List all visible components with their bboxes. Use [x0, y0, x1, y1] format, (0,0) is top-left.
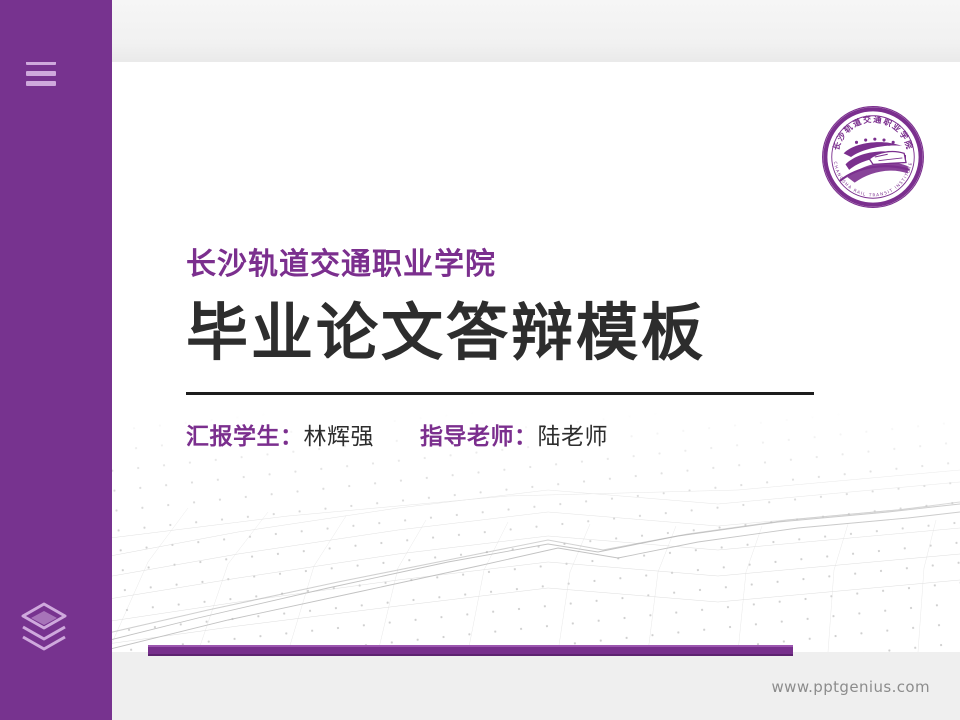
left-sidebar [0, 0, 112, 720]
slide-content-card: 长沙轨道交通职业学院 CHANGSHA RAIL TRANSIT INSTITU… [78, 62, 960, 652]
people-row: 汇报学生： 林辉强 指导老师： 陆老师 [186, 417, 886, 451]
background-top-strip [0, 0, 960, 66]
advisor-label: 指导老师： [420, 417, 538, 451]
hamburger-menu-icon[interactable] [26, 60, 56, 86]
student-name: 林辉强 [304, 417, 375, 451]
bottom-accent-bar [148, 645, 793, 656]
menu-bar-2 [26, 71, 56, 76]
title-divider-rule [186, 392, 814, 395]
sidebar-top-notch [0, 0, 112, 62]
menu-bar-3 [26, 81, 56, 86]
university-seal-logo: 长沙轨道交通职业学院 CHANGSHA RAIL TRANSIT INSTITU… [818, 102, 928, 212]
page-title: 毕业论文答辩模板 [186, 297, 886, 368]
institution-name: 长沙轨道交通职业学院 [186, 247, 886, 283]
presentation-slide: 长沙轨道交通职业学院 CHANGSHA RAIL TRANSIT INSTITU… [0, 0, 960, 720]
advisor-name: 陆老师 [538, 417, 609, 451]
layers-stack-icon[interactable] [20, 600, 68, 652]
student-label: 汇报学生： [186, 417, 304, 451]
title-text-block: 长沙轨道交通职业学院 毕业论文答辩模板 汇报学生： 林辉强 指导老师： 陆老师 [186, 247, 886, 451]
student-info: 汇报学生： 林辉强 [186, 417, 374, 451]
footer-website-url[interactable]: www.pptgenius.com [772, 678, 930, 696]
advisor-info: 指导老师： 陆老师 [420, 417, 608, 451]
